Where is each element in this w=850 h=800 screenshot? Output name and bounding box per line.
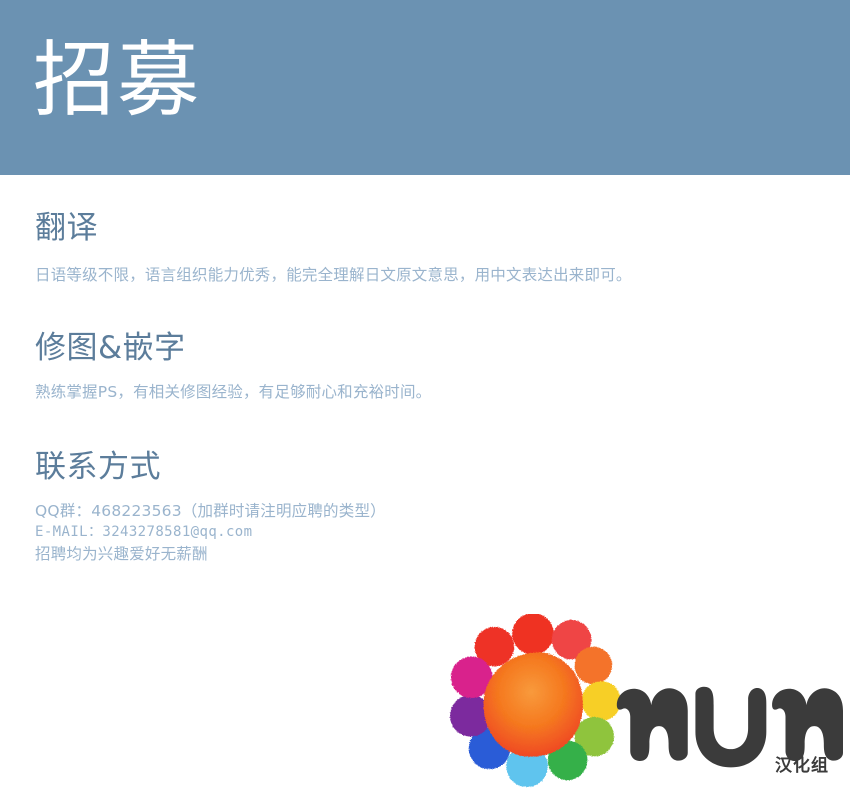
logo-watercolor-circle-icon [443,614,621,792]
contact-line-email: E-MAIL：3243278581@qq.com [35,522,850,542]
section-retouch-typeset: 修图&嵌字 熟练掌握PS，有相关修图经验，有足够耐心和充裕时间。 [0,331,850,405]
dot-orange-upper-right [575,647,613,685]
section-heading-retouch-typeset: 修图&嵌字 [35,331,850,367]
logo-subtitle: 汉化组 [775,751,829,776]
contact-line-unpaid-notice: 招聘均为兴趣爱好无薪酬 [35,543,850,565]
section-heading-translate: 翻译 [35,211,850,247]
section-translate: 翻译 日语等级不限，语言组织能力优秀，能完全理解日文原文意思，用中文表达出来即可… [0,211,850,287]
section-heading-contact: 联系方式 [35,450,850,486]
group-logo: 汉化组 [443,612,843,792]
dot-red-top [512,614,554,655]
section-body-retouch-typeset: 熟练掌握PS，有相关修图经验，有足够耐心和充裕时间。 [35,380,850,404]
contact-line-qq-group: QQ群：468223563（加群时请注明应聘的类型） [35,500,850,522]
page-title: 招募 [33,40,201,122]
contact-list: QQ群：468223563（加群时请注明应聘的类型） E-MAIL：324327… [35,500,850,565]
main-content: 翻译 日语等级不限，语言组织能力优秀，能完全理解日文原文意思，用中文表达出来即可… [0,175,850,565]
section-contact: 联系方式 QQ群：468223563（加群时请注明应聘的类型） E-MAIL：3… [0,450,850,565]
section-body-translate: 日语等级不限，语言组织能力优秀，能完全理解日文原文意思，用中文表达出来即可。 [35,263,850,287]
header-banner: 招募 [0,0,850,175]
